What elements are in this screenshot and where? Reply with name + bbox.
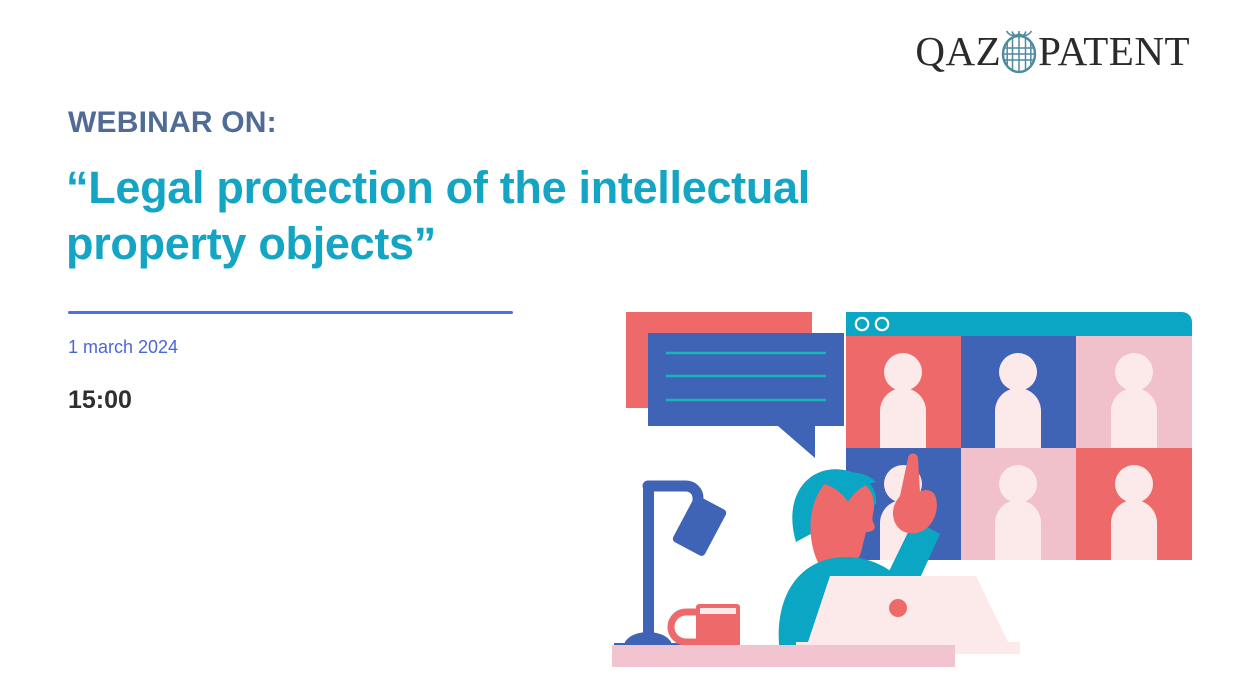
- slide-canvas: QAZ: [0, 0, 1260, 700]
- video-tile-r2c2: [961, 448, 1076, 560]
- laptop-camera-dot: [889, 599, 907, 617]
- qazpatent-logo: QAZ: [915, 26, 1190, 76]
- video-tile-r2c3: [1076, 448, 1192, 560]
- laptop-screen: [808, 576, 1008, 642]
- logo-text-patent: PATENT: [1038, 31, 1190, 72]
- desk-surface: [612, 645, 955, 667]
- laptop: [796, 576, 1020, 654]
- video-conference-illustration: [600, 290, 1220, 675]
- event-time: 15:00: [68, 385, 132, 415]
- window-titlebar: [846, 312, 1192, 336]
- logo-text-qaz: QAZ: [915, 31, 1001, 72]
- video-tile-r1c1: [846, 336, 961, 448]
- globe-emblem-icon: [997, 28, 1041, 76]
- video-tile-r1c2: [961, 336, 1076, 448]
- page-title: “Legal protection of the intellectual pr…: [66, 160, 966, 273]
- coffee-mug: [671, 604, 740, 650]
- page-kicker: WEBINAR ON:: [68, 106, 277, 139]
- chat-bubble-front: [648, 333, 844, 458]
- video-tile-r1c3: [1076, 336, 1192, 448]
- event-date: 1 march 2024: [68, 337, 178, 359]
- divider-rule: [68, 311, 513, 314]
